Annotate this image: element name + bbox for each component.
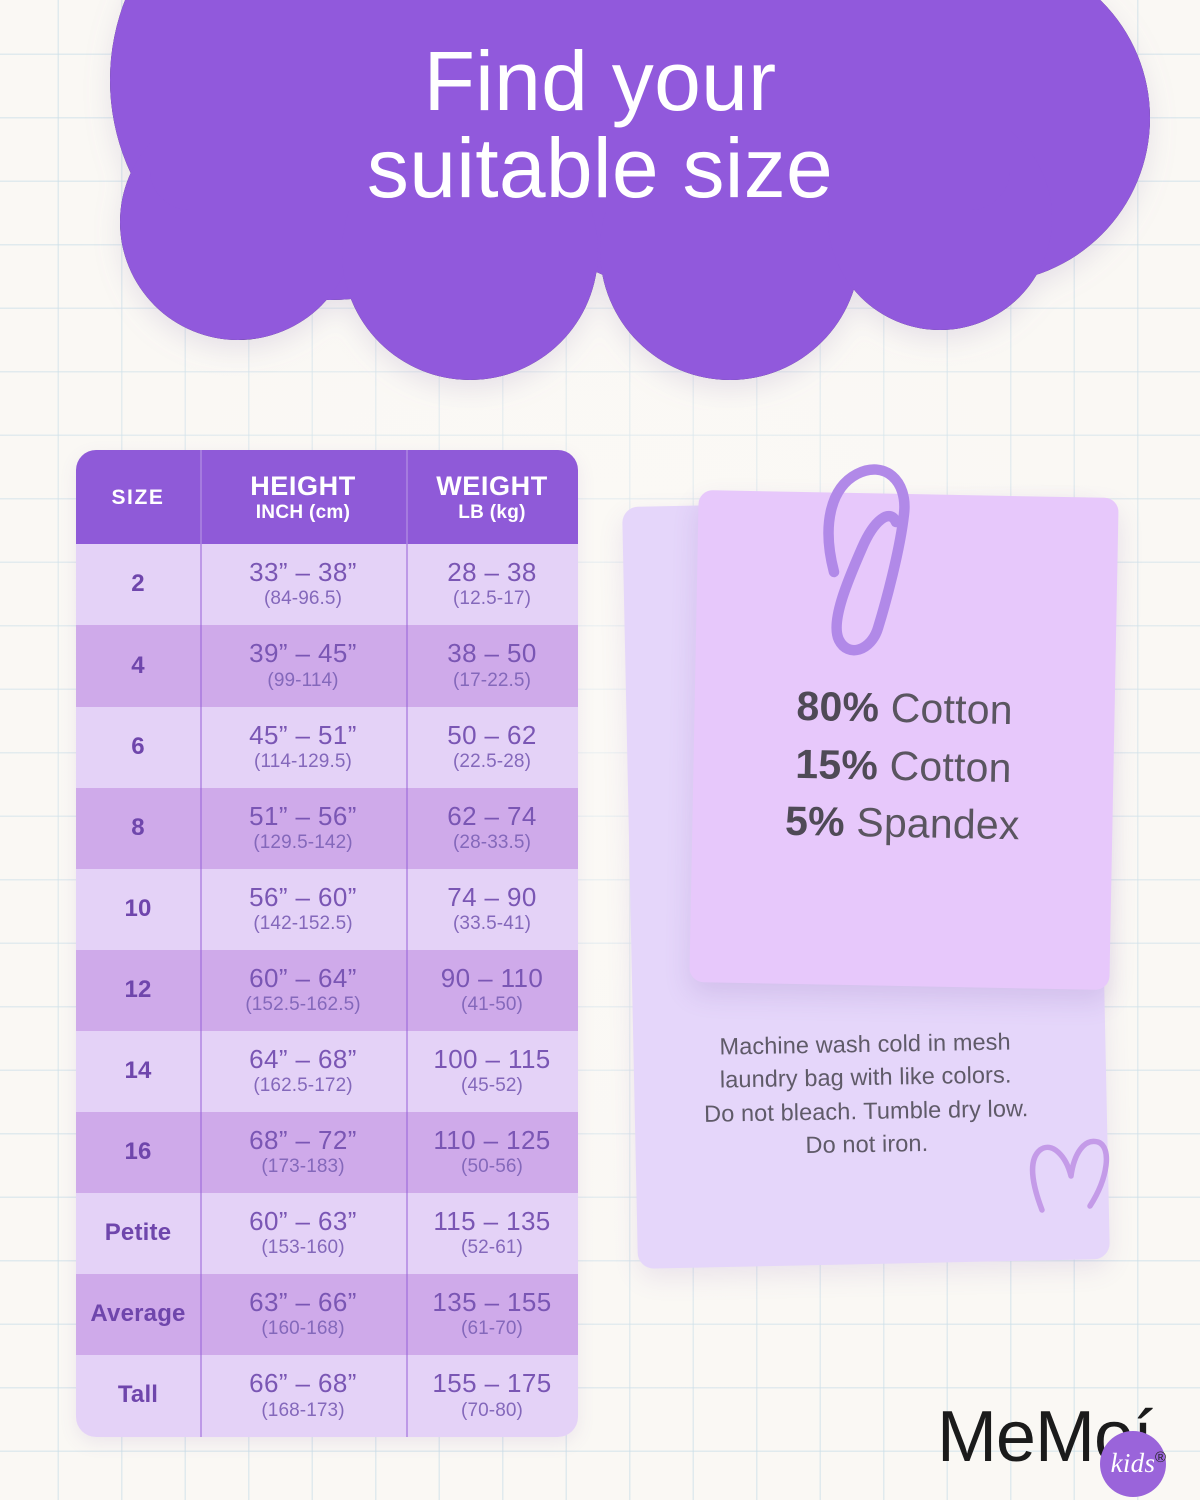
height-inches: 63” – 66” xyxy=(249,1288,357,1317)
cell-height: 66” – 68”(168-173) xyxy=(200,1355,406,1436)
cell-size: 12 xyxy=(76,950,200,1031)
cell-weight: 110 – 125(50-56) xyxy=(406,1112,578,1193)
size-label: 4 xyxy=(131,652,145,680)
cell-size: Petite xyxy=(76,1193,200,1274)
cell-weight: 100 – 115(45-52) xyxy=(406,1031,578,1112)
cell-size: Tall xyxy=(76,1355,200,1436)
weight-lb: 74 – 90 xyxy=(447,883,537,912)
height-cm: (153-160) xyxy=(261,1237,344,1259)
weight-kg: (41-50) xyxy=(461,994,523,1016)
cell-size: 10 xyxy=(76,869,200,950)
weight-lb: 115 – 135 xyxy=(433,1207,550,1236)
cell-size: 2 xyxy=(76,544,200,625)
cloud-header: Find your suitable size xyxy=(0,0,1200,410)
cell-weight: 38 – 50(17-22.5) xyxy=(406,625,578,706)
composition-line: 15% Cotton xyxy=(795,738,1012,795)
height-inches: 33” – 38” xyxy=(249,558,357,587)
table-row: Tall66” – 68”(168-173)155 – 175(70-80) xyxy=(76,1355,578,1436)
weight-lb: 38 – 50 xyxy=(447,639,537,668)
weight-kg: (45-52) xyxy=(461,1075,523,1097)
table-row: 1464” – 68”(162.5-172)100 – 115(45-52) xyxy=(76,1031,578,1112)
cell-size: 4 xyxy=(76,625,200,706)
size-label: 8 xyxy=(131,814,145,842)
cell-height: 68” – 72”(173-183) xyxy=(200,1112,406,1193)
size-label: Petite xyxy=(105,1219,172,1247)
height-inches: 60” – 63” xyxy=(249,1207,357,1236)
height-inches: 66” – 68” xyxy=(249,1369,357,1398)
height-cm: (84-96.5) xyxy=(264,588,342,610)
cell-weight: 50 – 62(22.5-28) xyxy=(406,707,578,788)
cell-size: Average xyxy=(76,1274,200,1355)
size-label: 10 xyxy=(124,895,151,923)
height-inches: 39” – 45” xyxy=(249,639,357,668)
size-chart-table: SIZE HEIGHT INCH (cm) WEIGHT LB (kg) 233… xyxy=(76,450,578,1437)
size-label: 14 xyxy=(124,1057,151,1085)
cell-height: 60” – 64”(152.5-162.5) xyxy=(200,950,406,1031)
cell-weight: 28 – 38(12.5-17) xyxy=(406,544,578,625)
height-cm: (152.5-162.5) xyxy=(245,994,360,1016)
height-inches: 51” – 56” xyxy=(249,802,357,831)
height-cm: (99-114) xyxy=(267,670,338,692)
height-cm: (114-129.5) xyxy=(254,751,352,773)
paperclip-icon xyxy=(804,452,924,667)
table-row: 645” – 51”(114-129.5)50 – 62(22.5-28) xyxy=(76,707,578,788)
table-header-row: SIZE HEIGHT INCH (cm) WEIGHT LB (kg) xyxy=(76,450,578,544)
weight-lb: 62 – 74 xyxy=(447,802,537,831)
sizing-infographic: Find your suitable size SIZE HEIGHT INCH… xyxy=(0,0,1200,1500)
weight-kg: (22.5-28) xyxy=(453,751,531,773)
weight-kg: (61-70) xyxy=(461,1318,523,1340)
height-cm: (168-173) xyxy=(261,1400,344,1422)
cell-weight: 135 – 155(61-70) xyxy=(406,1274,578,1355)
cell-height: 45” – 51”(114-129.5) xyxy=(200,707,406,788)
height-inches: 60” – 64” xyxy=(249,964,357,993)
weight-lb: 100 – 115 xyxy=(433,1045,550,1074)
table-row: 1056” – 60”(142-152.5)74 – 90(33.5-41) xyxy=(76,869,578,950)
weight-kg: (28-33.5) xyxy=(453,832,531,854)
height-inches: 64” – 68” xyxy=(249,1045,357,1074)
product-notes: 80% Cotton 15% Cotton 5% Spandex Machine… xyxy=(612,480,1132,1300)
cell-height: 63” – 66”(160-168) xyxy=(200,1274,406,1355)
size-label: 16 xyxy=(124,1138,151,1166)
brand-logo: MeMoí kids ® xyxy=(937,1403,1152,1472)
weight-lb: 135 – 155 xyxy=(432,1288,551,1317)
table-row: Average63” – 66”(160-168)135 – 155(61-70… xyxy=(76,1274,578,1355)
table-row: 439” – 45”(99-114)38 – 50(17-22.5) xyxy=(76,625,578,706)
weight-lb: 90 – 110 xyxy=(441,964,543,993)
cell-weight: 62 – 74(28-33.5) xyxy=(406,788,578,869)
cell-weight: 90 – 110(41-50) xyxy=(406,950,578,1031)
height-cm: (129.5-142) xyxy=(253,832,352,854)
heart-doodle-icon xyxy=(1024,1132,1120,1222)
cell-weight: 115 – 135(52-61) xyxy=(406,1193,578,1274)
weight-lb: 110 – 125 xyxy=(433,1126,550,1155)
weight-kg: (33.5-41) xyxy=(453,913,531,935)
weight-lb: 28 – 38 xyxy=(447,558,537,587)
cell-height: 60” – 63”(153-160) xyxy=(200,1193,406,1274)
cell-height: 39” – 45”(99-114) xyxy=(200,625,406,706)
height-cm: (162.5-172) xyxy=(253,1075,352,1097)
height-cm: (173-183) xyxy=(261,1156,344,1178)
size-label: Tall xyxy=(118,1381,158,1409)
weight-lb: 50 – 62 xyxy=(447,721,537,750)
composition-line: 80% Cotton xyxy=(796,680,1013,737)
cell-size: 14 xyxy=(76,1031,200,1112)
weight-kg: (70-80) xyxy=(461,1400,523,1422)
column-header-size: SIZE xyxy=(76,450,200,544)
cell-weight: 155 – 175(70-80) xyxy=(406,1355,578,1436)
column-header-height: HEIGHT INCH (cm) xyxy=(200,450,406,544)
table-row: 1260” – 64”(152.5-162.5)90 – 110(41-50) xyxy=(76,950,578,1031)
page-title: Find your suitable size xyxy=(0,38,1200,213)
height-cm: (160-168) xyxy=(261,1318,344,1340)
composition-line: 5% Spandex xyxy=(785,795,1020,852)
weight-kg: (52-61) xyxy=(461,1237,523,1259)
cell-height: 56” – 60”(142-152.5) xyxy=(200,869,406,950)
height-cm: (142-152.5) xyxy=(253,913,352,935)
size-label: 6 xyxy=(131,733,145,761)
cell-size: 8 xyxy=(76,788,200,869)
table-row: 851” – 56”(129.5-142)62 – 74(28-33.5) xyxy=(76,788,578,869)
column-header-weight: WEIGHT LB (kg) xyxy=(406,450,578,544)
height-inches: 56” – 60” xyxy=(249,883,357,912)
height-inches: 68” – 72” xyxy=(249,1126,357,1155)
cell-weight: 74 – 90(33.5-41) xyxy=(406,869,578,950)
size-label: Average xyxy=(90,1300,185,1328)
weight-kg: (50-56) xyxy=(461,1156,523,1178)
size-label: 2 xyxy=(131,570,145,598)
table-row: 1668” – 72”(173-183)110 – 125(50-56) xyxy=(76,1112,578,1193)
table-row: 233” – 38”(84-96.5)28 – 38(12.5-17) xyxy=(76,544,578,625)
cell-size: 16 xyxy=(76,1112,200,1193)
kids-badge-label: kids xyxy=(1111,1448,1156,1479)
weight-kg: (17-22.5) xyxy=(453,670,531,692)
cell-height: 33” – 38”(84-96.5) xyxy=(200,544,406,625)
weight-kg: (12.5-17) xyxy=(453,588,531,610)
cell-height: 51” – 56”(129.5-142) xyxy=(200,788,406,869)
registered-trademark-icon: ® xyxy=(1155,1449,1166,1466)
weight-lb: 155 – 175 xyxy=(432,1369,551,1398)
cell-height: 64” – 68”(162.5-172) xyxy=(200,1031,406,1112)
cell-size: 6 xyxy=(76,707,200,788)
table-row: Petite60” – 63”(153-160)115 – 135(52-61) xyxy=(76,1193,578,1274)
height-inches: 45” – 51” xyxy=(249,721,357,750)
size-label: 12 xyxy=(124,976,151,1004)
table-body: 233” – 38”(84-96.5)28 – 38(12.5-17)439” … xyxy=(76,544,578,1436)
